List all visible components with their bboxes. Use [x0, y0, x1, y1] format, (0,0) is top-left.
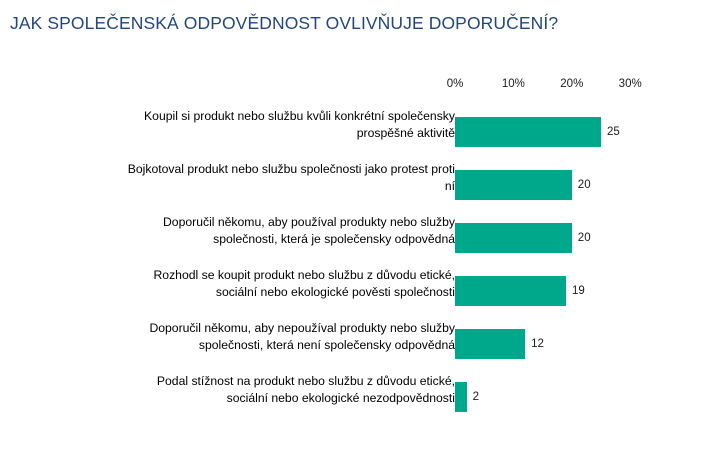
category-label-line2: společnosti, která není společensky odpo… [65, 337, 455, 354]
category-label-line2: společnosti, která je společensky odpově… [65, 231, 455, 248]
category-label-line1: Doporučil někomu, aby nepoužíval produkt… [65, 320, 455, 337]
bar[interactable] [455, 329, 525, 359]
bar[interactable] [455, 170, 572, 200]
bar-row: Koupil si produkt nebo službu kvůli konk… [0, 106, 717, 159]
category-label: Doporučil někomu, aby nepoužíval produkt… [65, 320, 455, 353]
category-label: Doporučil někomu, aby používal produkty … [65, 214, 455, 247]
category-label-line2: sociální nebo ekologické pověsti společn… [65, 284, 455, 301]
x-tick-label-20pct: 20% [560, 78, 583, 90]
bar[interactable] [455, 276, 566, 306]
category-label-line1: Rozhodl se koupit produkt nebo službu z … [65, 267, 455, 284]
bar[interactable] [455, 223, 572, 253]
x-tick-label-30pct: 30% [619, 78, 642, 90]
bar-value-label: 20 [578, 179, 591, 191]
bar-and-value: 20 [455, 170, 591, 200]
category-label: Koupil si produkt nebo službu kvůli konk… [65, 108, 455, 141]
bar-row: Doporučil někomu, aby používal produkty … [0, 212, 717, 265]
page-title: JAK SPOLEČENSKÁ ODPOVĚDNOST OVLIVŇUJE DO… [10, 13, 558, 34]
category-label-line1: Bojkotoval produkt nebo službu společnos… [65, 161, 455, 178]
bar-value-label: 2 [473, 391, 479, 403]
bar-and-value: 20 [455, 223, 591, 253]
category-label-line2: prospěšné aktivitě [65, 125, 455, 142]
bar-and-value: 19 [455, 276, 585, 306]
bar-and-value: 25 [455, 117, 620, 147]
chart-plot-area: 0%10%20%30% Koupil si produkt nebo služb… [0, 72, 717, 442]
bar-row: Bojkotoval produkt nebo službu společnos… [0, 159, 717, 212]
bar-value-label: 20 [578, 232, 591, 244]
bar-and-value: 2 [455, 382, 479, 412]
bar-and-value: 12 [455, 329, 544, 359]
bar-rows: Koupil si produkt nebo službu kvůli konk… [0, 106, 717, 424]
category-label: Bojkotoval produkt nebo službu společnos… [65, 161, 455, 194]
category-label-line1: Doporučil někomu, aby používal produkty … [65, 214, 455, 231]
category-label-line2: sociální nebo ekologické nezodpovědnosti [65, 390, 455, 407]
category-label-line1: Koupil si produkt nebo službu kvůli konk… [65, 108, 455, 125]
x-axis-tick-labels: 0%10%20%30% [0, 72, 717, 96]
bar[interactable] [455, 382, 467, 412]
category-label: Rozhodl se koupit produkt nebo službu z … [65, 267, 455, 300]
bar-row: Rozhodl se koupit produkt nebo službu z … [0, 265, 717, 318]
bar-value-label: 12 [531, 338, 544, 350]
bar-value-label: 25 [607, 126, 620, 138]
category-label: Podal stížnost na produkt nebo službu z … [65, 373, 455, 406]
bar-value-label: 19 [572, 285, 585, 297]
bar-row: Podal stížnost na produkt nebo službu z … [0, 371, 717, 424]
category-label-line2: ní [65, 178, 455, 195]
x-tick-label-0pct: 0% [447, 78, 464, 90]
category-label-line1: Podal stížnost na produkt nebo službu z … [65, 373, 455, 390]
bar-row: Doporučil někomu, aby nepoužíval produkt… [0, 318, 717, 371]
x-tick-label-10pct: 10% [502, 78, 525, 90]
bar[interactable] [455, 117, 601, 147]
